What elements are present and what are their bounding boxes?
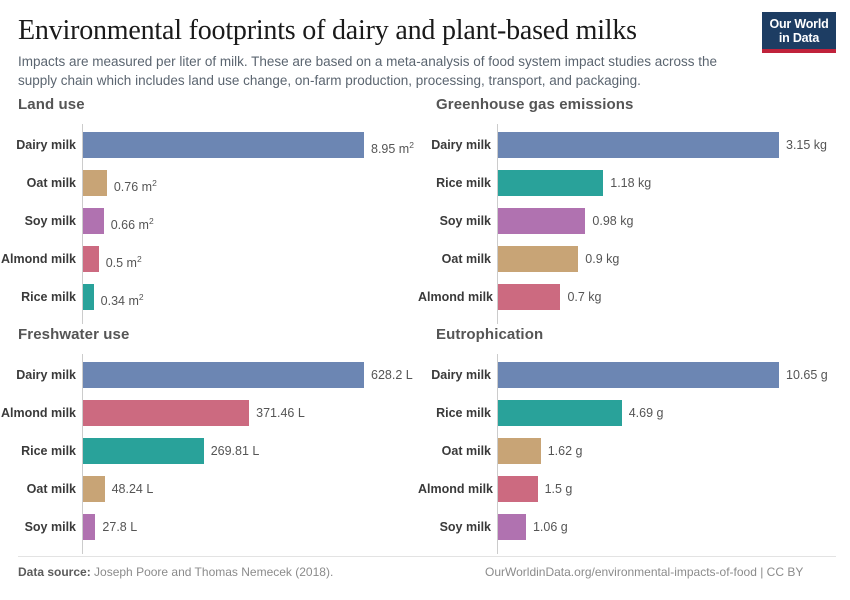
value-label: 1.06 g: [533, 514, 568, 540]
value-label: 1.62 g: [548, 438, 583, 464]
bar-row: Rice milk4.69 g: [418, 400, 843, 426]
bar[interactable]: [498, 246, 578, 272]
bar-row: Rice milk0.34 m2: [0, 284, 425, 310]
category-label: Dairy milk: [418, 132, 491, 158]
panel-title: Land use: [18, 96, 85, 113]
bar[interactable]: [83, 170, 107, 196]
category-label: Rice milk: [0, 438, 76, 464]
panel-eutrophication: Eutrophication Dairy milk10.65 gRice mil…: [418, 326, 843, 556]
bar-row: Almond milk371.46 L: [0, 400, 425, 426]
category-label: Dairy milk: [0, 132, 76, 158]
chart-page: Environmental footprints of dairy and pl…: [0, 0, 850, 600]
data-source-label: Data source:: [18, 565, 91, 579]
bar-row: Dairy milk8.95 m2: [0, 132, 425, 158]
value-label: 269.81 L: [211, 438, 260, 464]
value-label: 0.76 m2: [114, 170, 157, 196]
bar[interactable]: [83, 132, 364, 158]
category-label: Soy milk: [0, 514, 76, 540]
category-label: Soy milk: [418, 208, 491, 234]
license-text[interactable]: OurWorldinData.org/environmental-impacts…: [485, 565, 803, 579]
bar-row: Dairy milk10.65 g: [418, 362, 843, 388]
value-label: 0.34 m2: [101, 284, 144, 310]
bar[interactable]: [83, 476, 105, 502]
bar-row: Almond milk0.5 m2: [0, 246, 425, 272]
value-label: 1.18 kg: [610, 170, 651, 196]
data-source-text: Joseph Poore and Thomas Nemecek (2018).: [91, 565, 334, 579]
category-label: Soy milk: [418, 514, 491, 540]
value-label: 0.9 kg: [585, 246, 619, 272]
category-label: Almond milk: [0, 400, 76, 426]
category-label: Oat milk: [0, 476, 76, 502]
bar[interactable]: [83, 284, 94, 310]
panel-title: Freshwater use: [18, 326, 129, 343]
bar[interactable]: [498, 400, 622, 426]
bar-row: Oat milk0.9 kg: [418, 246, 843, 272]
bar[interactable]: [83, 400, 249, 426]
value-label: 10.65 g: [786, 362, 828, 388]
bar-row: Almond milk0.7 kg: [418, 284, 843, 310]
category-label: Dairy milk: [418, 362, 491, 388]
value-label: 1.5 g: [545, 476, 573, 502]
plot-area: Dairy milk8.95 m2Oat milk0.76 m2Soy milk…: [0, 124, 425, 324]
value-label: 0.98 kg: [592, 208, 633, 234]
panel-title: Greenhouse gas emissions: [436, 96, 633, 113]
value-label: 0.7 kg: [567, 284, 601, 310]
bar-row: Soy milk0.98 kg: [418, 208, 843, 234]
bar-row: Dairy milk628.2 L: [0, 362, 425, 388]
bar[interactable]: [498, 476, 538, 502]
logo-line-1: Our World: [762, 17, 836, 31]
bar[interactable]: [83, 514, 95, 540]
category-label: Rice milk: [418, 400, 491, 426]
category-label: Almond milk: [0, 246, 76, 272]
value-label: 0.66 m2: [111, 208, 154, 234]
data-source: Data source: Joseph Poore and Thomas Nem…: [18, 565, 333, 579]
category-label: Oat milk: [0, 170, 76, 196]
page-subtitle: Impacts are measured per liter of milk. …: [18, 52, 753, 90]
category-label: Almond milk: [418, 284, 491, 310]
plot-area: Dairy milk10.65 gRice milk4.69 gOat milk…: [418, 354, 843, 554]
plot-area: Dairy milk628.2 LAlmond milk371.46 LRice…: [0, 354, 425, 554]
plot-area: Dairy milk3.15 kgRice milk1.18 kgSoy mil…: [418, 124, 843, 324]
category-label: Almond milk: [418, 476, 491, 502]
bar-row: Rice milk1.18 kg: [418, 170, 843, 196]
bar-row: Oat milk1.62 g: [418, 438, 843, 464]
panel-land-use: Land use Dairy milk8.95 m2Oat milk0.76 m…: [0, 96, 425, 326]
bar-row: Soy milk27.8 L: [0, 514, 425, 540]
category-label: Rice milk: [0, 284, 76, 310]
bar[interactable]: [498, 170, 603, 196]
chart-grid: Land use Dairy milk8.95 m2Oat milk0.76 m…: [0, 96, 850, 556]
bar[interactable]: [83, 438, 204, 464]
bar[interactable]: [83, 246, 99, 272]
value-label: 3.15 kg: [786, 132, 827, 158]
value-label: 27.8 L: [102, 514, 137, 540]
panel-freshwater-use: Freshwater use Dairy milk628.2 LAlmond m…: [0, 326, 425, 556]
panel-title: Eutrophication: [436, 326, 543, 343]
category-label: Dairy milk: [0, 362, 76, 388]
bar-row: Soy milk1.06 g: [418, 514, 843, 540]
bar[interactable]: [498, 284, 560, 310]
bar-row: Dairy milk3.15 kg: [418, 132, 843, 158]
value-label: 371.46 L: [256, 400, 305, 426]
category-label: Soy milk: [0, 208, 76, 234]
footer-divider: [18, 556, 836, 557]
category-label: Oat milk: [418, 246, 491, 272]
panel-greenhouse-gas-emissions: Greenhouse gas emissions Dairy milk3.15 …: [418, 96, 843, 326]
category-label: Oat milk: [418, 438, 491, 464]
bar[interactable]: [83, 208, 104, 234]
value-label: 8.95 m2: [371, 132, 414, 158]
page-title: Environmental footprints of dairy and pl…: [18, 14, 832, 48]
bar-row: Oat milk0.76 m2: [0, 170, 425, 196]
value-label: 48.24 L: [112, 476, 154, 502]
value-label: 628.2 L: [371, 362, 413, 388]
bar[interactable]: [498, 362, 779, 388]
value-label: 0.5 m2: [106, 246, 142, 272]
bar[interactable]: [498, 514, 526, 540]
bar-row: Oat milk48.24 L: [0, 476, 425, 502]
bar-row: Rice milk269.81 L: [0, 438, 425, 464]
bar-row: Almond milk1.5 g: [418, 476, 843, 502]
value-label: 4.69 g: [629, 400, 664, 426]
bar[interactable]: [498, 132, 779, 158]
bar[interactable]: [498, 208, 585, 234]
chart-header: Environmental footprints of dairy and pl…: [0, 0, 850, 90]
logo-line-2: in Data: [762, 31, 836, 45]
bar[interactable]: [83, 362, 364, 388]
bar[interactable]: [498, 438, 541, 464]
our-world-in-data-logo[interactable]: Our World in Data: [762, 12, 836, 53]
bar-row: Soy milk0.66 m2: [0, 208, 425, 234]
category-label: Rice milk: [418, 170, 491, 196]
